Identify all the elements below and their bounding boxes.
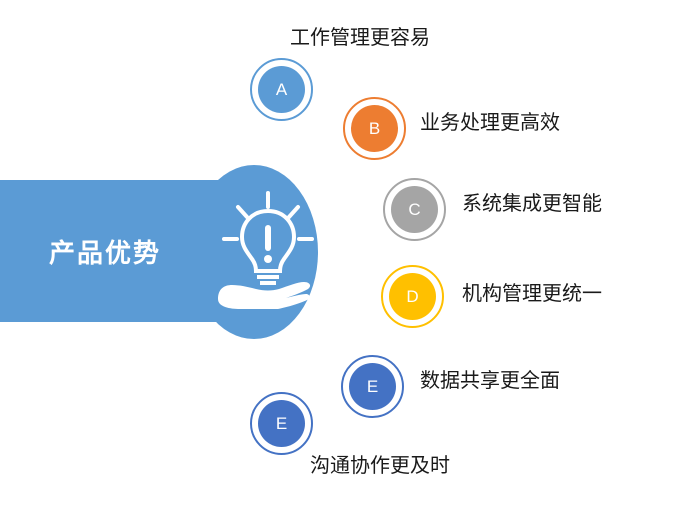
badge-e-inner: E — [349, 363, 396, 410]
badge-e[interactable]: E — [341, 355, 404, 418]
badge-a[interactable]: A — [250, 58, 313, 121]
badge-e-letter: E — [367, 378, 378, 395]
badge-f-letter: E — [276, 415, 287, 432]
badge-a-inner: A — [258, 66, 305, 113]
lightbulb-on-hand-icon — [216, 191, 320, 311]
badge-d-inner: D — [389, 273, 436, 320]
badge-b-letter: B — [369, 120, 380, 137]
advantage-label-d: 机构管理更统一 — [462, 284, 602, 304]
product-advantage-banner: 产品优势 — [0, 165, 330, 340]
advantage-label-b: 业务处理更高效 — [420, 113, 560, 133]
badge-f[interactable]: E — [250, 392, 313, 455]
badge-d-letter: D — [406, 288, 418, 305]
badge-c-letter: C — [408, 201, 420, 218]
advantage-label-c: 系统集成更智能 — [462, 194, 602, 214]
badge-b[interactable]: B — [343, 97, 406, 160]
badge-c[interactable]: C — [383, 178, 446, 241]
advantage-label-e: 数据共享更全面 — [420, 371, 560, 391]
infographic-canvas: 产品优势 — [0, 0, 673, 515]
badge-d[interactable]: D — [381, 265, 444, 328]
banner-title: 产品优势 — [0, 180, 210, 322]
advantage-label-f: 沟通协作更及时 — [310, 456, 450, 476]
badge-c-inner: C — [391, 186, 438, 233]
badge-b-inner: B — [351, 105, 398, 152]
badge-a-letter: A — [276, 81, 287, 98]
advantage-label-a: 工作管理更容易 — [290, 28, 430, 48]
badge-f-inner: E — [258, 400, 305, 447]
